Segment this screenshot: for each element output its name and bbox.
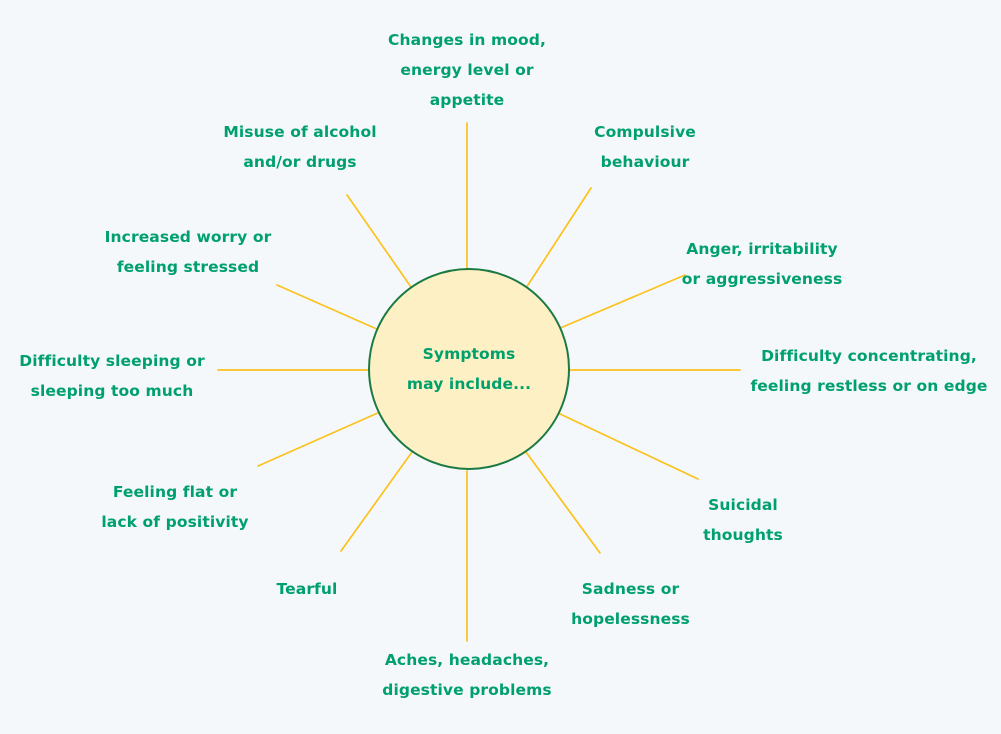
node-misuse-of-alcohol-line-2: and/or drugs bbox=[196, 147, 404, 177]
node-compulsive-behaviour[interactable]: Compulsive behaviour bbox=[572, 117, 718, 177]
spoke-line-feeling-flat bbox=[258, 412, 380, 466]
node-suicidal-thoughts-line-1: Suicidal bbox=[678, 490, 808, 520]
node-anger-irritability-line-2: or aggressiveness bbox=[668, 264, 856, 294]
spoke-line-increased-worry bbox=[277, 285, 379, 330]
node-difficulty-sleeping-line-1: Difficulty sleeping or bbox=[4, 346, 220, 376]
node-difficulty-sleeping[interactable]: Difficulty sleeping or sleeping too much bbox=[4, 346, 220, 406]
spoke-line-anger-irritability bbox=[558, 275, 685, 329]
node-misuse-of-alcohol-line-1: Misuse of alcohol bbox=[196, 117, 404, 147]
node-sadness-or-hopelessness-line-1: Sadness or bbox=[543, 574, 718, 604]
node-difficulty-concentrating-line-2: feeling restless or on edge bbox=[744, 371, 994, 401]
node-changes-in-mood-line-1: Changes in mood, bbox=[364, 25, 570, 55]
spoke-line-tearful bbox=[341, 452, 412, 551]
node-aches-headaches-line-2: digestive problems bbox=[362, 675, 572, 705]
symptoms-sunburst-diagram: Symptoms may include... Changes in mood,… bbox=[0, 0, 1001, 734]
node-tearful-line-1: Tearful bbox=[241, 574, 373, 604]
node-sadness-or-hopelessness[interactable]: Sadness or hopelessness bbox=[543, 574, 718, 634]
node-feeling-flat[interactable]: Feeling flat or lack of positivity bbox=[75, 477, 275, 537]
node-compulsive-behaviour-line-2: behaviour bbox=[572, 147, 718, 177]
node-changes-in-mood-line-3: appetite bbox=[364, 85, 570, 115]
spoke-line-compulsive-behaviour bbox=[526, 188, 591, 288]
spoke-line-sadness-or-hopelessness bbox=[526, 452, 600, 553]
node-difficulty-concentrating-line-1: Difficulty concentrating, bbox=[744, 341, 994, 371]
node-suicidal-thoughts-line-2: thoughts bbox=[678, 520, 808, 550]
spoke-line-suicidal-thoughts bbox=[558, 413, 698, 479]
spoke-line-misuse-of-alcohol bbox=[347, 195, 411, 287]
node-tearful[interactable]: Tearful bbox=[241, 574, 373, 604]
hub-label-line-2: may include... bbox=[407, 369, 531, 399]
node-anger-irritability[interactable]: Anger, irritability or aggressiveness bbox=[668, 234, 856, 294]
node-sadness-or-hopelessness-line-2: hopelessness bbox=[543, 604, 718, 634]
node-changes-in-mood-line-2: energy level or bbox=[364, 55, 570, 85]
node-suicidal-thoughts[interactable]: Suicidal thoughts bbox=[678, 490, 808, 550]
hub-circle: Symptoms may include... bbox=[368, 268, 570, 470]
node-feeling-flat-line-1: Feeling flat or bbox=[75, 477, 275, 507]
node-anger-irritability-line-1: Anger, irritability bbox=[668, 234, 856, 264]
node-aches-headaches[interactable]: Aches, headaches, digestive problems bbox=[362, 645, 572, 705]
node-misuse-of-alcohol[interactable]: Misuse of alcohol and/or drugs bbox=[196, 117, 404, 177]
node-increased-worry-line-2: feeling stressed bbox=[80, 252, 296, 282]
node-increased-worry-line-1: Increased worry or bbox=[80, 222, 296, 252]
node-feeling-flat-line-2: lack of positivity bbox=[75, 507, 275, 537]
node-compulsive-behaviour-line-1: Compulsive bbox=[572, 117, 718, 147]
hub-label-line-1: Symptoms bbox=[423, 339, 516, 369]
node-increased-worry[interactable]: Increased worry or feeling stressed bbox=[80, 222, 296, 282]
node-difficulty-concentrating[interactable]: Difficulty concentrating, feeling restle… bbox=[744, 341, 994, 401]
node-changes-in-mood[interactable]: Changes in mood, energy level or appetit… bbox=[364, 25, 570, 115]
node-difficulty-sleeping-line-2: sleeping too much bbox=[4, 376, 220, 406]
node-aches-headaches-line-1: Aches, headaches, bbox=[362, 645, 572, 675]
